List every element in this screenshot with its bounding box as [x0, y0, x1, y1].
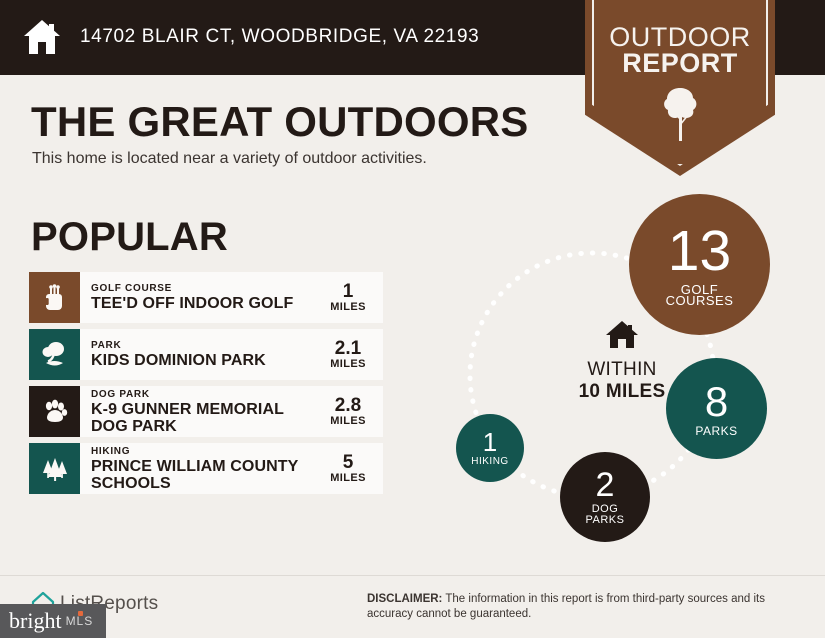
list-item-category: GOLF COURSE [91, 283, 317, 295]
bright-accent-dot [78, 611, 83, 616]
house-icon [22, 18, 62, 56]
list-item[interactable]: HIKING PRINCE WILLIAM COUNTY SCHOOLS 5 M… [29, 443, 383, 494]
distance-value: 1 [343, 282, 354, 301]
list-item-text: DOG PARK K-9 GUNNER MEMORIAL DOG PARK [80, 386, 317, 437]
list-item-name: TEE'D OFF INDOOR GOLF [91, 295, 317, 312]
distance-value: 5 [343, 453, 354, 472]
property-address: 14702 BLAIR CT, WOODBRIDGE, VA 22193 [80, 26, 479, 48]
within-10-miles-diagram: 13 GOLF COURSES 8 PARKS 2 DOG PARKS 1 HI… [420, 180, 825, 550]
house-icon [542, 320, 702, 355]
bubble-count: 8 [705, 381, 728, 423]
list-item-name: K-9 GUNNER MEMORIAL DOG PARK [91, 401, 317, 435]
bright-mls-logo: bright MLS [0, 604, 106, 638]
diagram-center: WITHIN 10 MILES [542, 320, 702, 403]
popular-list: GOLF COURSE TEE'D OFF INDOOR GOLF 1 MILE… [29, 272, 383, 500]
page-title: THE GREAT OUTDOORS [31, 98, 529, 146]
list-item-name: KIDS DOMINION PARK [91, 352, 317, 369]
bubble-count: 13 [668, 223, 731, 280]
list-item-distance: 1 MILES [317, 272, 383, 323]
paw-print-icon [29, 386, 80, 437]
list-item-category: DOG PARK [91, 389, 317, 401]
bubble-dog-parks[interactable]: 2 DOG PARKS [560, 452, 650, 542]
bubble-label-line2: PARKS [586, 515, 625, 526]
popular-heading: POPULAR [31, 215, 228, 260]
center-line-1: WITHIN [542, 359, 702, 381]
bubble-label-line1: PARKS [695, 426, 737, 437]
tree-icon [660, 85, 700, 143]
pine-trees-icon [29, 443, 80, 494]
golf-bag-icon [29, 272, 80, 323]
list-item[interactable]: GOLF COURSE TEE'D OFF INDOOR GOLF 1 MILE… [29, 272, 383, 323]
center-line-2: 10 MILES [542, 381, 702, 403]
bright-mls-word: MLS [66, 614, 94, 628]
footer-divider [0, 575, 825, 576]
distance-unit: MILES [330, 415, 366, 427]
distance-value: 2.1 [335, 339, 361, 358]
distance-value: 2.8 [335, 396, 361, 415]
park-tree-icon [29, 329, 80, 380]
bubble-golf-courses[interactable]: 13 GOLF COURSES [629, 194, 770, 335]
list-item-distance: 2.8 MILES [317, 386, 383, 437]
distance-unit: MILES [330, 472, 366, 484]
list-item-name: PRINCE WILLIAM COUNTY SCHOOLS [91, 458, 317, 492]
bubble-label-line1: HIKING [471, 456, 508, 467]
distance-unit: MILES [330, 358, 366, 370]
list-item-distance: 2.1 MILES [317, 329, 383, 380]
list-item[interactable]: PARK KIDS DOMINION PARK 2.1 MILES [29, 329, 383, 380]
bright-word: bright [9, 610, 62, 632]
list-item-distance: 5 MILES [317, 443, 383, 494]
bubble-hiking[interactable]: 1 HIKING [456, 414, 524, 482]
list-item-text: GOLF COURSE TEE'D OFF INDOOR GOLF [80, 272, 317, 323]
bubble-label-line2: COURSES [666, 295, 734, 306]
bubble-count: 2 [596, 468, 615, 502]
list-item-category: HIKING [91, 446, 317, 458]
distance-unit: MILES [330, 301, 366, 313]
badge-line-2: REPORT [585, 48, 775, 79]
disclaimer: DISCLAIMER: The information in this repo… [367, 592, 797, 622]
page-subtitle: This home is located near a variety of o… [32, 150, 427, 168]
bubble-count: 1 [483, 429, 497, 455]
disclaimer-label: DISCLAIMER: [367, 593, 442, 605]
list-item-category: PARK [91, 340, 317, 352]
list-item-text: HIKING PRINCE WILLIAM COUNTY SCHOOLS [80, 443, 317, 494]
list-item-text: PARK KIDS DOMINION PARK [80, 329, 317, 380]
list-item[interactable]: DOG PARK K-9 GUNNER MEMORIAL DOG PARK 2.… [29, 386, 383, 437]
